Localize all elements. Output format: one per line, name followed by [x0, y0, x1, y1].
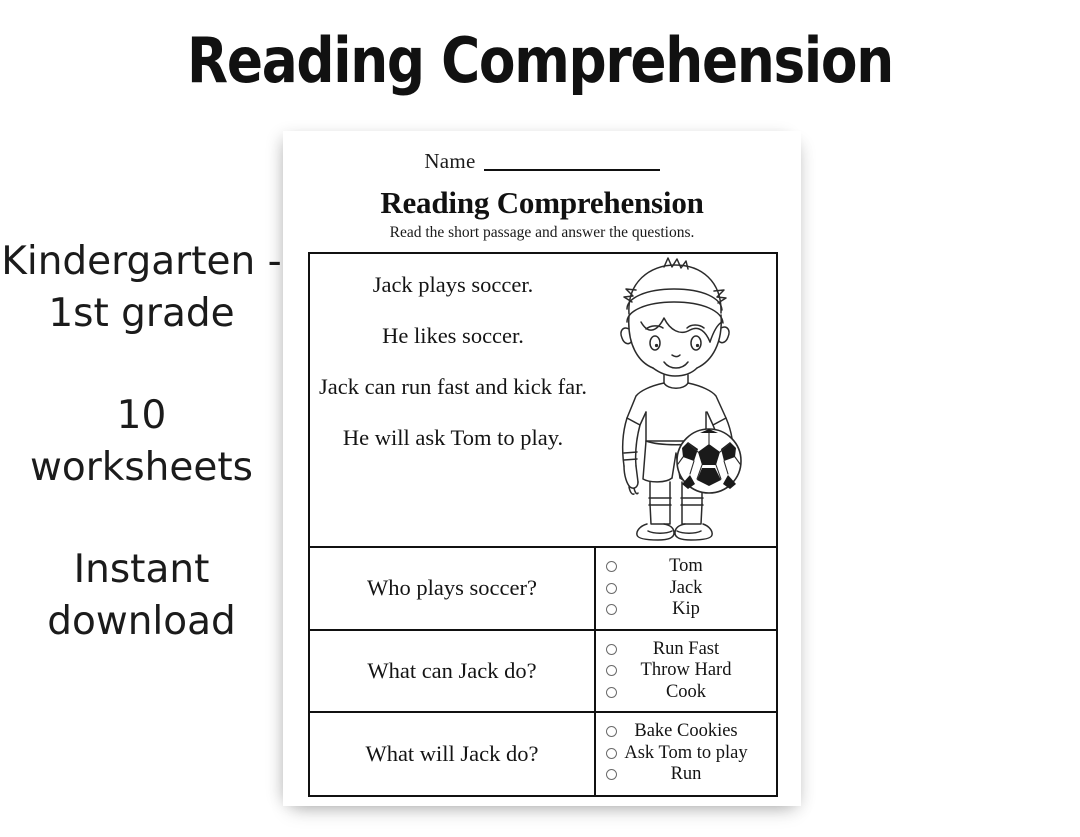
- answer-option[interactable]: Run Fast: [602, 639, 770, 661]
- radio-circle-icon[interactable]: [606, 726, 617, 737]
- answer-option[interactable]: Ask Tom to play: [602, 743, 770, 765]
- worksheet-instructions: Read the short passage and answer the qu…: [283, 224, 801, 242]
- listing-image: Reading Comprehension Kindergarten - 1st…: [0, 0, 1080, 837]
- answer-options: Bake Cookies Ask Tom to play Run: [596, 713, 776, 795]
- radio-circle-icon[interactable]: [606, 644, 617, 655]
- question-prompt: What will Jack do?: [310, 713, 596, 795]
- name-field-row: Name: [283, 149, 801, 174]
- answer-option-label: Bake Cookies: [634, 721, 737, 741]
- name-label: Name: [424, 149, 475, 174]
- radio-circle-icon[interactable]: [606, 561, 617, 572]
- radio-circle-icon[interactable]: [606, 665, 617, 676]
- passage-line: Jack can run fast and kick far.: [318, 372, 588, 402]
- passage-row: Jack plays soccer. He likes soccer. Jack…: [310, 254, 776, 548]
- worksheet-title: Reading Comprehension: [283, 185, 801, 221]
- answer-option[interactable]: Run: [602, 764, 770, 786]
- answer-option-label: Cook: [666, 682, 706, 702]
- answer-option-label: Jack: [670, 578, 703, 598]
- answer-option-label: Tom: [669, 556, 703, 576]
- answer-option[interactable]: Jack: [602, 578, 770, 600]
- radio-circle-icon[interactable]: [606, 687, 617, 698]
- radio-circle-icon[interactable]: [606, 748, 617, 759]
- passage-text: Jack plays soccer. He likes soccer. Jack…: [310, 254, 596, 546]
- listing-promo-column: Kindergarten - 1st grade 10 worksheets I…: [0, 236, 283, 648]
- answer-option[interactable]: Throw Hard: [602, 660, 770, 682]
- listing-headline: Reading Comprehension: [76, 22, 1005, 100]
- illustration-cell: [596, 254, 776, 546]
- answer-option[interactable]: Kip: [602, 599, 770, 621]
- promo-worksheet-count: 10 worksheets: [0, 390, 283, 494]
- passage-line: He will ask Tom to play.: [318, 423, 588, 453]
- worksheet-page: Name Reading Comprehension Read the shor…: [283, 131, 801, 806]
- answer-option-label: Run Fast: [653, 639, 719, 659]
- radio-circle-icon[interactable]: [606, 769, 617, 780]
- answer-option-label: Kip: [672, 599, 700, 619]
- passage-line: Jack plays soccer.: [318, 270, 588, 300]
- answer-option-label: Run: [671, 764, 702, 784]
- answer-option[interactable]: Tom: [602, 556, 770, 578]
- question-row: Who plays soccer? Tom Jack Kip: [310, 548, 776, 631]
- answer-option-label: Throw Hard: [641, 660, 732, 680]
- answer-option[interactable]: Bake Cookies: [602, 721, 770, 743]
- name-write-in-line[interactable]: [484, 169, 660, 171]
- passage-line: He likes soccer.: [318, 321, 588, 351]
- radio-circle-icon[interactable]: [606, 604, 617, 615]
- question-row: What can Jack do? Run Fast Throw Hard Co…: [310, 631, 776, 714]
- answer-option-label: Ask Tom to play: [624, 743, 747, 763]
- answer-options: Run Fast Throw Hard Cook: [596, 631, 776, 712]
- boy-with-soccer-ball-icon: [602, 256, 770, 541]
- promo-delivery-method: Instant download: [0, 544, 283, 648]
- worksheet-grid: Jack plays soccer. He likes soccer. Jack…: [308, 252, 778, 797]
- answer-options: Tom Jack Kip: [596, 548, 776, 629]
- question-row: What will Jack do? Bake Cookies Ask Tom …: [310, 713, 776, 795]
- question-prompt: What can Jack do?: [310, 631, 596, 712]
- radio-circle-icon[interactable]: [606, 583, 617, 594]
- promo-grade-level: Kindergarten - 1st grade: [0, 236, 283, 340]
- answer-option[interactable]: Cook: [602, 682, 770, 704]
- question-prompt: Who plays soccer?: [310, 548, 596, 629]
